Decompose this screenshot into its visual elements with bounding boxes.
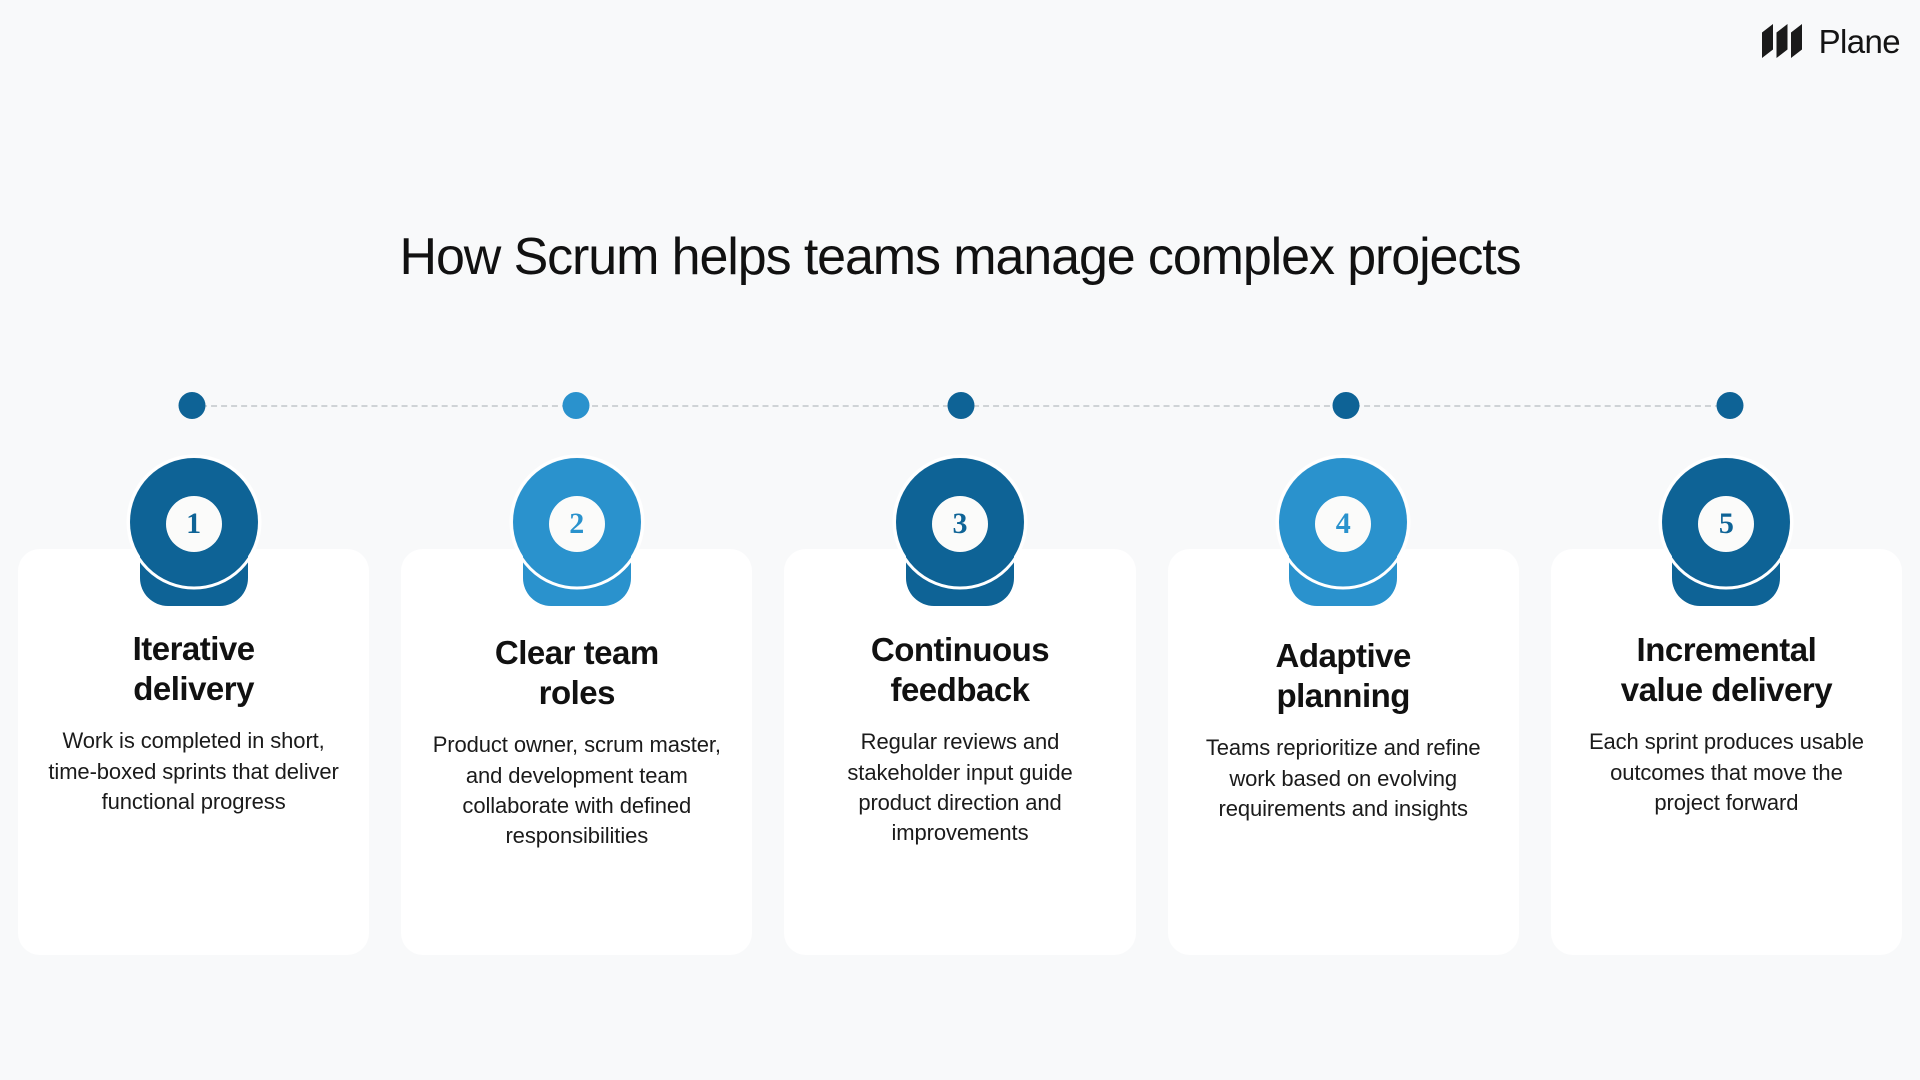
step-title: Continuous feedback bbox=[806, 630, 1113, 709]
step-number: 4 bbox=[1336, 509, 1351, 539]
timeline bbox=[178, 392, 1744, 420]
step-number-badge: 5 bbox=[1698, 496, 1754, 552]
step-card[interactable]: 5 Incremental value delivery Each sprint… bbox=[1551, 549, 1902, 955]
step-number: 5 bbox=[1719, 509, 1734, 539]
step-card-body: Adaptive planning Teams reprioritize and… bbox=[1168, 549, 1519, 955]
plane-logo-mark-icon bbox=[1762, 24, 1808, 58]
step-number-badge: 1 bbox=[166, 496, 222, 552]
step-number: 1 bbox=[186, 509, 201, 539]
brand-logo: Plane bbox=[1762, 20, 1900, 62]
step-number-badge: 3 bbox=[932, 496, 988, 552]
step-card[interactable]: 3 Continuous feedback Regular reviews an… bbox=[784, 549, 1135, 955]
step-card-body: Iterative delivery Work is completed in … bbox=[18, 549, 369, 955]
timeline-dot-4 bbox=[1333, 392, 1360, 419]
brand-name: Plane bbox=[1819, 25, 1900, 58]
step-card-body: Clear team roles Product owner, scrum ma… bbox=[401, 549, 752, 955]
step-description: Each sprint produces usable outcomes tha… bbox=[1573, 727, 1880, 818]
step-number-badge: 2 bbox=[549, 496, 605, 552]
step-number: 3 bbox=[953, 509, 968, 539]
timeline-dot-1 bbox=[178, 392, 205, 419]
step-card-body: Continuous feedback Regular reviews and … bbox=[784, 549, 1135, 955]
step-title: Adaptive planning bbox=[1190, 636, 1497, 715]
step-card-body: Incremental value delivery Each sprint p… bbox=[1551, 549, 1902, 955]
step-description: Regular reviews and stakeholder input gu… bbox=[806, 727, 1113, 848]
step-title: Iterative delivery bbox=[40, 629, 347, 708]
step-card[interactable]: 1 Iterative delivery Work is completed i… bbox=[18, 549, 369, 955]
step-description: Teams reprioritize and refine work based… bbox=[1190, 733, 1497, 824]
step-number-badge: 4 bbox=[1315, 496, 1371, 552]
step-card-row: 1 Iterative delivery Work is completed i… bbox=[18, 549, 1902, 955]
step-title: Incremental value delivery bbox=[1573, 630, 1880, 709]
step-number: 2 bbox=[569, 509, 584, 539]
timeline-dot-5 bbox=[1717, 392, 1744, 419]
timeline-dot-3 bbox=[948, 392, 975, 419]
step-card[interactable]: 2 Clear team roles Product owner, scrum … bbox=[401, 549, 752, 955]
infographic-canvas: Plane How Scrum helps teams manage compl… bbox=[0, 0, 1920, 1080]
timeline-dot-2 bbox=[563, 392, 590, 419]
step-title: Clear team roles bbox=[423, 633, 730, 712]
page-title: How Scrum helps teams manage complex pro… bbox=[0, 229, 1920, 286]
step-description: Product owner, scrum master, and develop… bbox=[423, 730, 730, 851]
step-description: Work is completed in short, time-boxed s… bbox=[40, 726, 347, 817]
step-card[interactable]: 4 Adaptive planning Teams reprioritize a… bbox=[1168, 549, 1519, 955]
